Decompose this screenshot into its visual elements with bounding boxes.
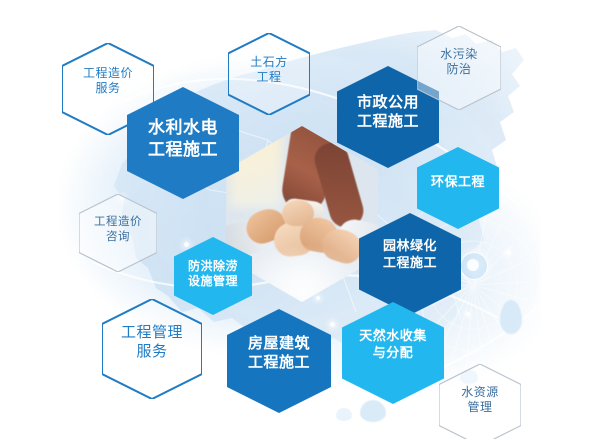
hexagon-label: 工程造价 咨询 [88,215,148,244]
hexagon-engineering-management-service[interactable]: 工程管理 服务 [102,299,202,385]
hexagon-engineering-cost-consulting[interactable]: 工程造价 咨询 [79,194,157,266]
hexagon-label: 水污染 防治 [434,47,484,78]
hexagon-water-resource-management[interactable]: 水资源 管理 [439,364,521,436]
hexagon-label: 市政公用 工程施工 [351,93,425,131]
infographic-canvas: 工程造价 服务土石方 工程水利水电 工程施工市政公用 工程施工水污染 防治环保工… [0,0,600,439]
bokeh-dot [506,250,511,255]
network-node-core-icon [460,252,488,280]
hexagon-building-construction-engineering[interactable]: 房屋建筑 工程施工 [227,309,331,397]
hexagon-natural-water-collection-distribution[interactable]: 天然水收集 与分配 [342,302,444,388]
hexagon-label: 防洪除涝 设施管理 [182,259,244,290]
hexagon-label: 园林绿化 工程施工 [377,238,443,271]
hexagon-earthwork-engineering[interactable]: 土石方 工程 [228,33,310,107]
hexagon-label: 工程造价 服务 [77,66,139,97]
hexagon-label: 环保工程 [425,174,491,191]
hexagon-label: 水资源 管理 [455,385,505,416]
bokeh-dot [466,312,470,316]
hexagon-label: 天然水收集 与分配 [353,328,433,361]
hexagon-water-conservancy-hydropower-construction[interactable]: 水利水电 工程施工 [127,87,239,191]
hexagon-label: 水利水电 工程施工 [142,117,224,161]
hexagon-label: 房屋建筑 工程施工 [242,334,316,372]
hexagon-label: 工程管理 服务 [115,323,189,361]
water-droplet-decoration [336,408,352,421]
hexagon-environmental-protection-engineering[interactable]: 环保工程 [417,147,499,217]
hexagon-landscaping-greening-construction[interactable]: 园林绿化 工程施工 [359,213,461,297]
water-droplet-decoration [500,300,522,334]
hexagon-label: 土石方 工程 [244,55,294,86]
bokeh-dot [316,296,320,300]
hexagon-water-pollution-control[interactable]: 水污染 防治 [417,26,501,98]
